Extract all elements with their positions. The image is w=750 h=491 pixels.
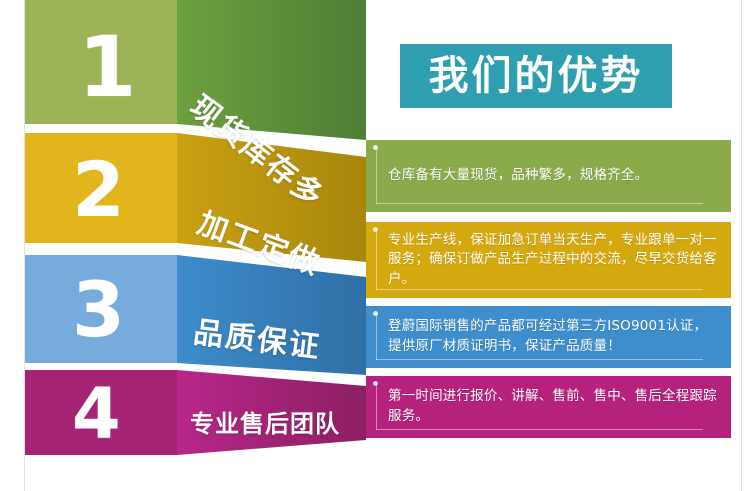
description-text-1: 仓库备有大量现货，品种繁多，规格齐全。 bbox=[366, 166, 662, 186]
band-label-4: 专业售后团队 bbox=[190, 404, 340, 439]
description-text-3: 登蔚国际销售的产品都可经过第三方ISO9001认证，提供原厂材质证明书，保证产品… bbox=[366, 317, 731, 356]
advantages-infographic: 1 2 3 4 现货库存多 加工定做 品质保证 专业售后团队 我们的优势 仓库备… bbox=[0, 0, 750, 491]
panel-bracket-bottom bbox=[376, 203, 703, 204]
title-plate: 我们的优势 bbox=[400, 44, 672, 108]
panel-bracket-left bbox=[376, 384, 377, 430]
description-text-2: 专业生产线，保证加急订单当天生产，专业跟单一对一服务；确保订做产品生产过程中的交… bbox=[366, 231, 731, 290]
description-panel-1: 仓库备有大量现货，品种繁多，规格齐全。 bbox=[366, 140, 731, 212]
description-panel-2: 专业生产线，保证加急订单当天生产，专业跟单一对一服务；确保订做产品生产过程中的交… bbox=[366, 222, 731, 298]
row-number-3: 3 bbox=[72, 272, 124, 348]
description-panel-3: 登蔚国际销售的产品都可经过第三方ISO9001认证，提供原厂材质证明书，保证产品… bbox=[366, 306, 731, 368]
page-title: 我们的优势 bbox=[429, 56, 644, 96]
description-text-4: 第一时间进行报价、讲解、售前、售中、售后全程跟踪服务。 bbox=[366, 387, 731, 426]
panel-bracket-bottom bbox=[376, 359, 703, 360]
panel-bracket-bottom bbox=[376, 429, 703, 430]
row-number-2: 2 bbox=[72, 152, 124, 228]
row-number-4: 4 bbox=[72, 379, 120, 449]
panel-bracket-left bbox=[376, 148, 377, 204]
description-panel-4: 第一时间进行报价、讲解、售前、售中、售后全程跟踪服务。 bbox=[366, 376, 731, 438]
panel-bracket-bottom bbox=[376, 289, 703, 290]
row-number-1: 1 bbox=[78, 25, 135, 109]
panel-bracket-left bbox=[376, 314, 377, 360]
panel-bracket-left bbox=[376, 230, 377, 290]
